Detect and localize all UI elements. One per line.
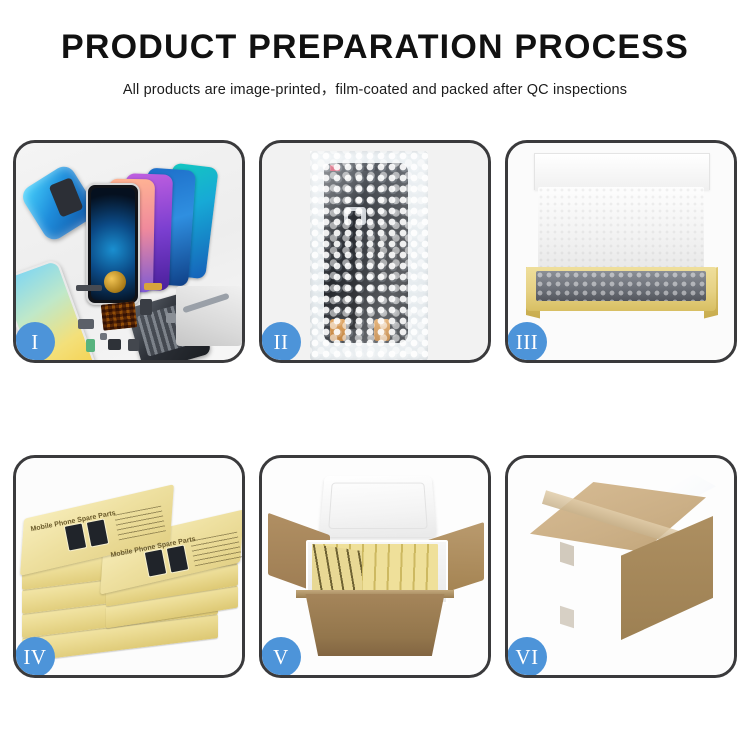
step-panel-4[interactable]: Mobile Phone Spare Parts Mobile Phone Sp… <box>13 455 245 678</box>
box-lid-icon <box>534 153 710 190</box>
gold-connector-icon <box>144 283 162 290</box>
step-badge-3: III <box>507 322 547 362</box>
product-preparation-infographic: PRODUCT PREPARATION PROCESS All products… <box>0 0 750 750</box>
plastic-sheen <box>310 151 428 360</box>
bubble-bag <box>310 151 428 360</box>
inner-box-packing-photo <box>508 143 734 360</box>
carton-loading-photo <box>262 458 488 675</box>
flex-cable-icon <box>76 285 102 291</box>
step-badge-5: V <box>261 637 301 677</box>
parts-assortment-photo <box>16 143 242 360</box>
bracket-part-icon <box>128 339 139 351</box>
box-stack: Mobile Phone Spare Parts Mobile Phone Sp… <box>20 474 242 670</box>
bubble-wrapping-photo <box>262 143 488 360</box>
foam-texture <box>538 187 704 271</box>
steps-grid: I II <box>13 140 737 678</box>
step-badge-4: IV <box>15 637 55 677</box>
carton-seam-top <box>560 542 574 567</box>
step-panel-1[interactable]: I <box>13 140 245 363</box>
wrapped-item-icon <box>536 271 706 301</box>
camera-module-icon <box>140 299 152 315</box>
repair-tool-icon <box>176 286 242 346</box>
header: PRODUCT PREPARATION PROCESS All products… <box>0 0 750 99</box>
carton-front-panel <box>296 594 454 656</box>
boxes-stacked-photo: Mobile Phone Spare Parts Mobile Phone Sp… <box>16 458 242 675</box>
carton-seam-bottom <box>560 606 574 629</box>
tray-bubble-texture <box>536 271 706 301</box>
button-part-icon <box>108 339 121 350</box>
step-panel-2[interactable]: II <box>259 140 491 363</box>
foam-sheet-icon <box>538 187 704 271</box>
small-part-icon <box>78 319 94 329</box>
speaker-coil-icon <box>104 271 126 293</box>
step-panel-5[interactable]: V <box>259 455 491 678</box>
step-panel-6[interactable]: VI <box>505 455 737 678</box>
sim-tray-icon <box>166 313 176 323</box>
battery-part-icon <box>86 339 95 352</box>
step-badge-2: II <box>261 322 301 362</box>
foam-lid-icon <box>319 476 437 537</box>
screw-part-icon <box>100 333 107 340</box>
page-subtitle: All products are image-printed，film-coat… <box>0 78 750 99</box>
kraft-tray-icon <box>526 267 716 311</box>
step-panel-3[interactable]: III <box>505 140 737 363</box>
step-badge-1: I <box>15 322 55 362</box>
step-badge-6: VI <box>507 637 547 677</box>
carton-sealed-photo <box>508 458 734 675</box>
page-title: PRODUCT PREPARATION PROCESS <box>0 30 750 66</box>
chip-grid-icon <box>101 301 138 330</box>
